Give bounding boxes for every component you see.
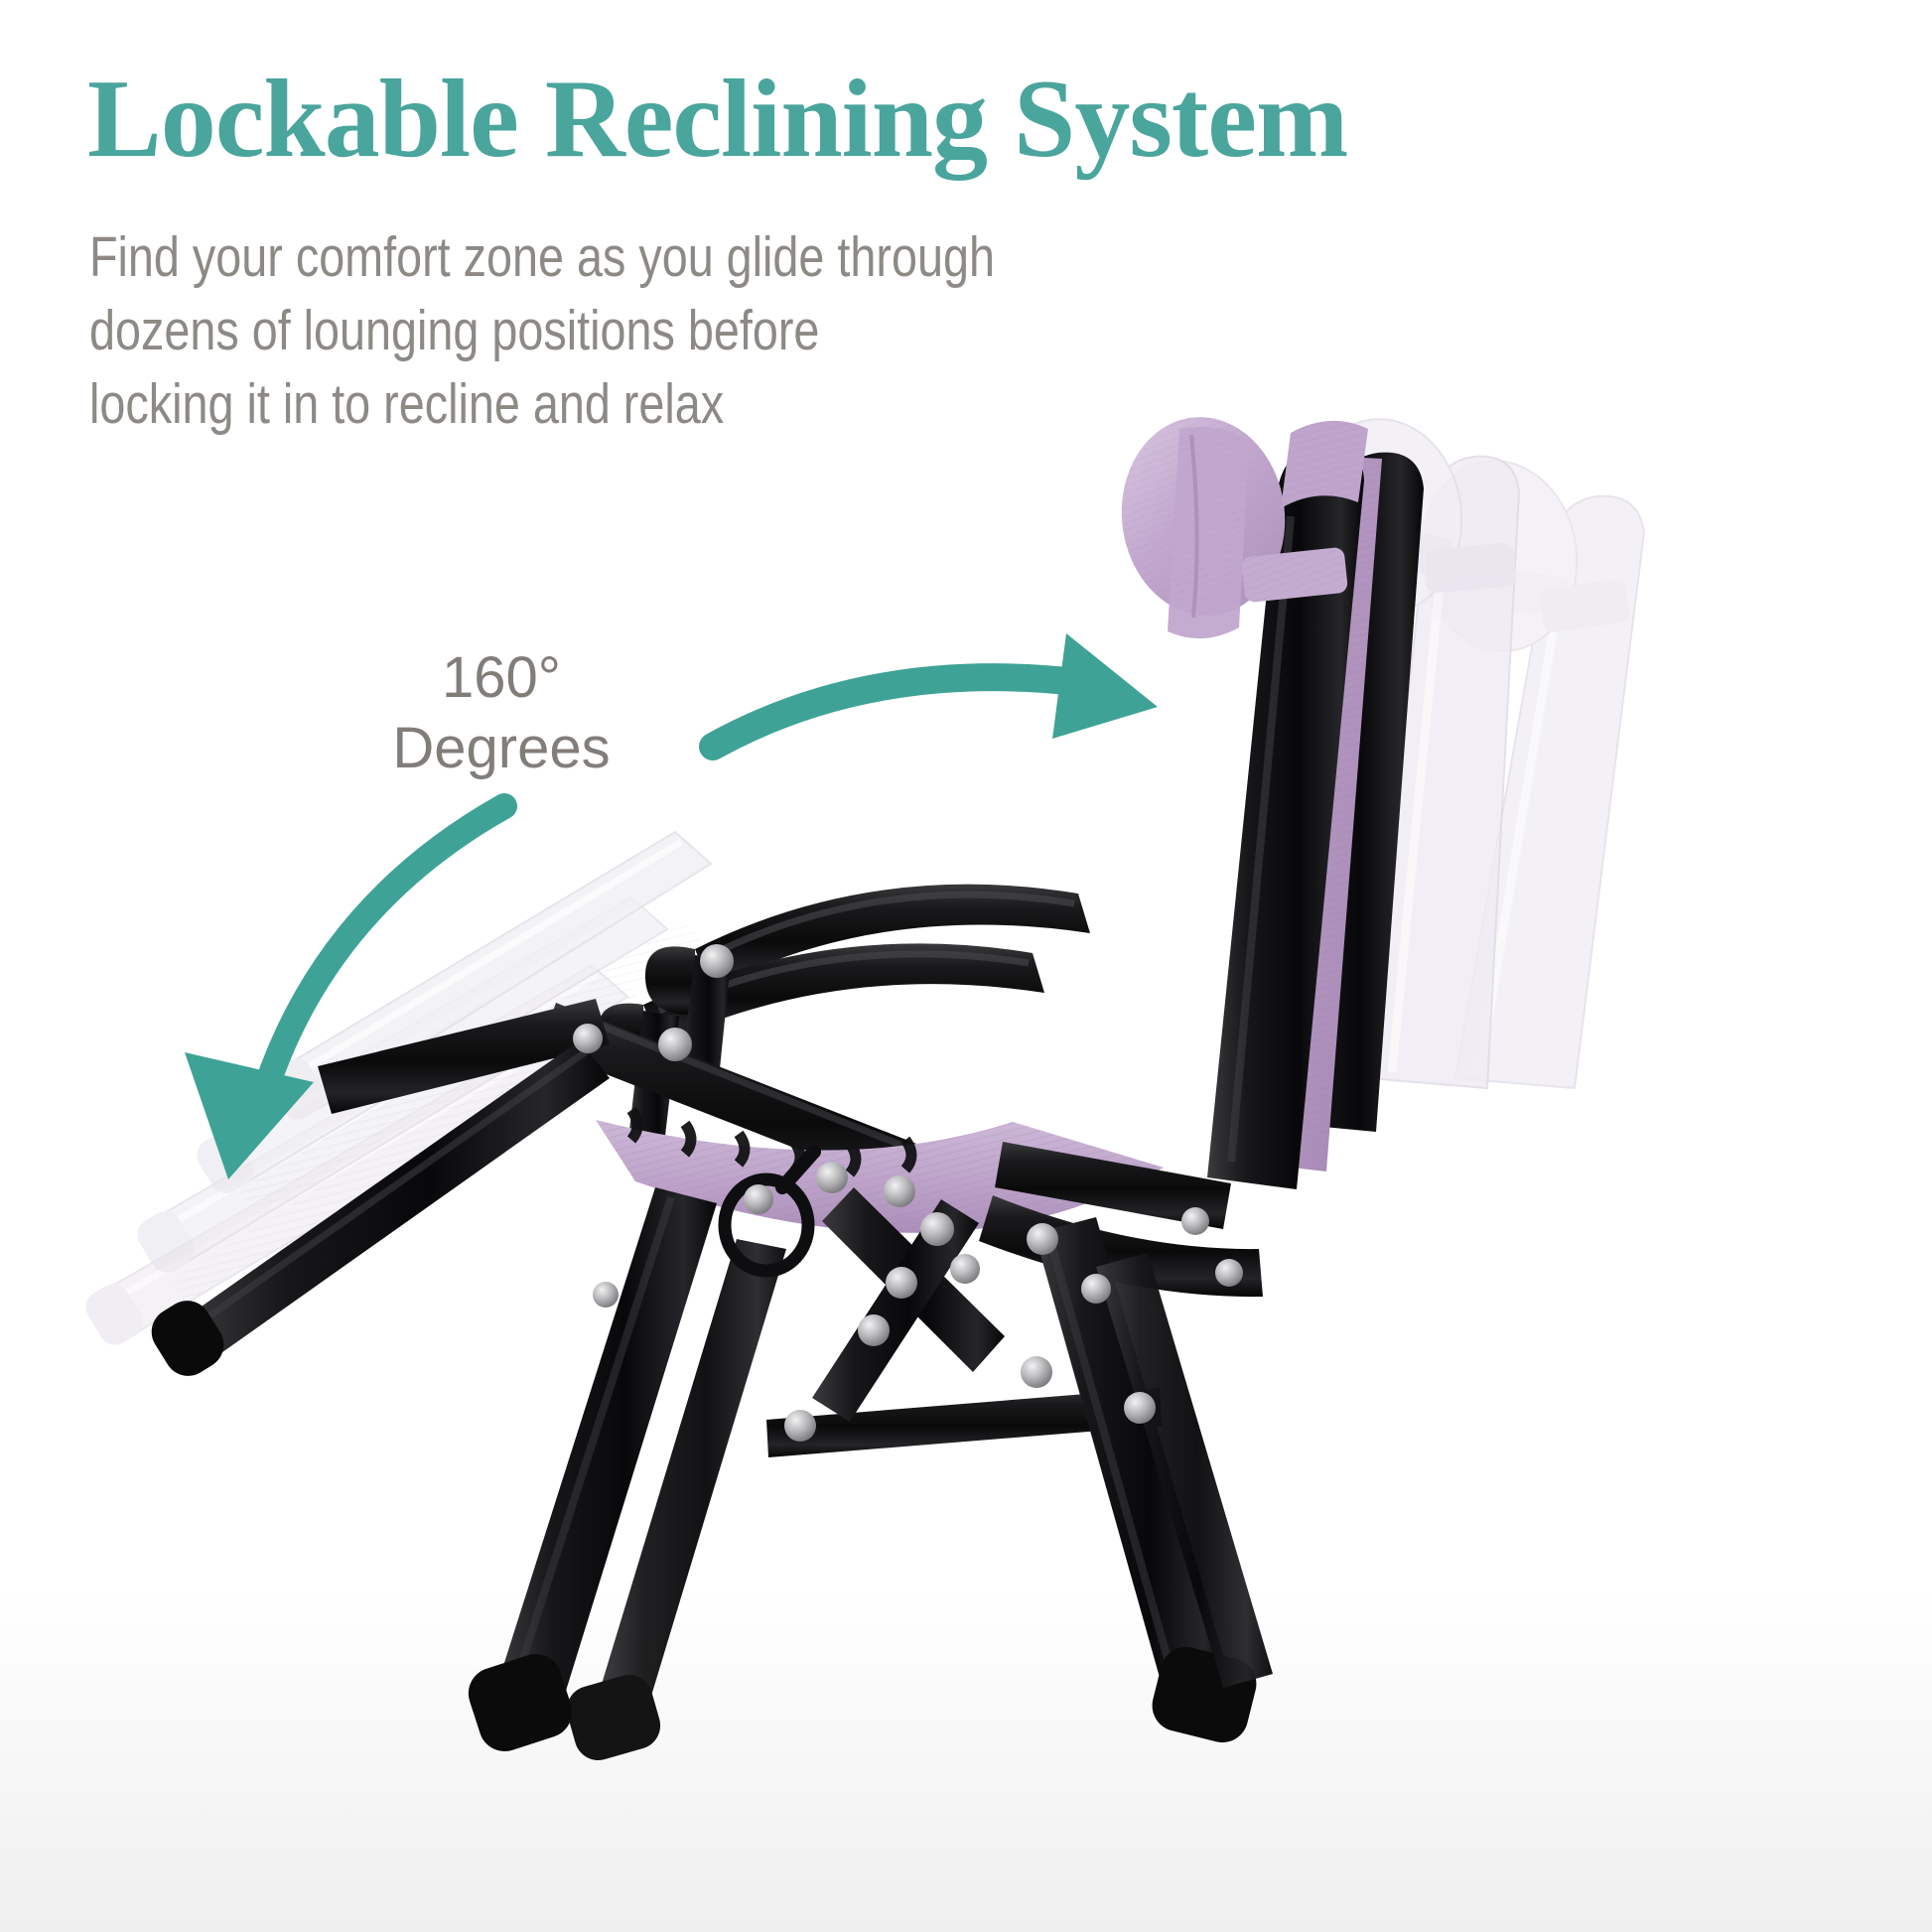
product-illustration — [0, 0, 1932, 1932]
curved-arrow-right-icon — [713, 633, 1158, 747]
recliner-chair — [143, 409, 1424, 1766]
product-feature-slide: Lockable Reclining System Find your comf… — [0, 0, 1932, 1932]
